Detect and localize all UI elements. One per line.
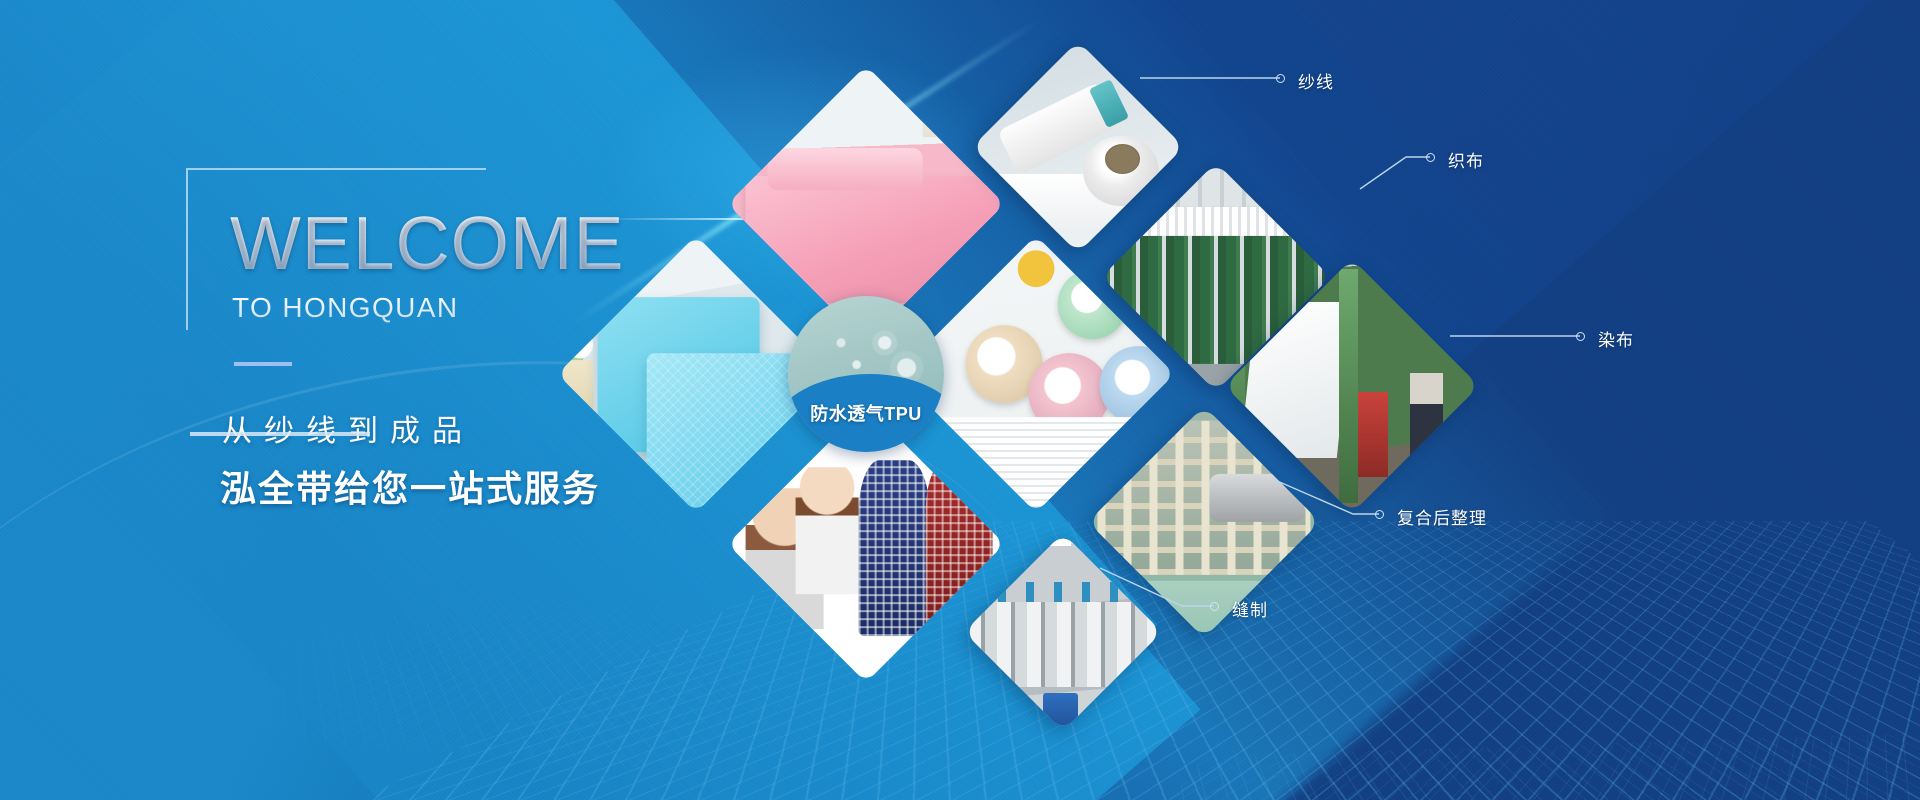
- callout-label-lamination: 复合后整理: [1397, 504, 1487, 529]
- callout-label-sewing: 缝制: [1232, 596, 1268, 621]
- callout-label-weaving: 织布: [1448, 147, 1484, 172]
- slogan: 泓全带给您一站式服务: [220, 460, 600, 512]
- page-subtitle: TO HONGQUAN: [232, 292, 458, 324]
- page-title: WELCOME: [230, 206, 625, 281]
- callout-dot-icon: [1375, 510, 1384, 519]
- tagline: 从纱线到成品: [222, 406, 474, 450]
- callout-dot-icon: [1210, 602, 1219, 611]
- title-rule: [234, 362, 292, 366]
- callout-dot-icon: [1426, 153, 1435, 162]
- tpu-badge-label: 防水透气TPU: [788, 400, 944, 426]
- bottom-rule-decoration: [190, 432, 370, 436]
- callout-dot-icon: [1576, 332, 1585, 341]
- perspective-mesh-upper: [990, 733, 1920, 800]
- callout-label-dyeing: 染布: [1598, 326, 1634, 351]
- hero-banner: WELCOME TO HONGQUAN 从纱线到成品 泓全带给您一站式服务: [0, 0, 1920, 800]
- tpu-feature-badge[interactable]: 防水透气TPU: [788, 296, 944, 452]
- callout-dot-icon: [1276, 74, 1285, 83]
- callout-label-yarn: 纱线: [1298, 68, 1334, 93]
